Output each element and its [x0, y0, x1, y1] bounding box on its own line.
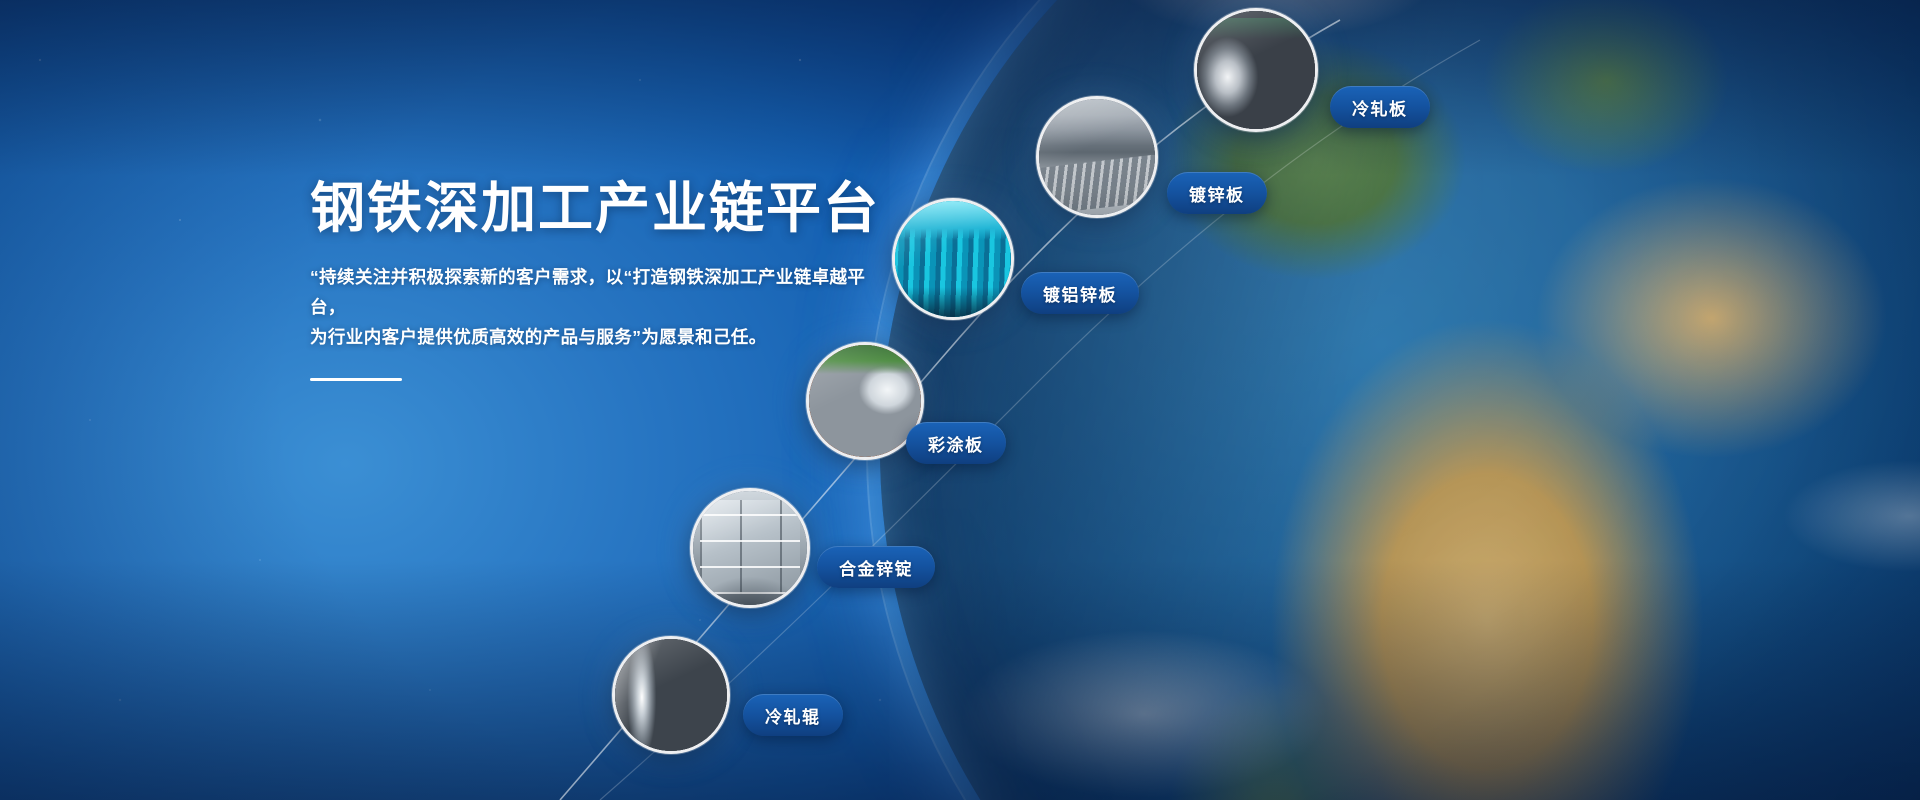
zinc-ingot-photo: [693, 491, 807, 605]
product-tag-2[interactable]: 镀锌板: [1167, 172, 1267, 214]
product-thumbnail-2[interactable]: [1036, 96, 1158, 218]
product-thumbnail-1[interactable]: [1194, 8, 1318, 132]
aluzinc-sheet-photo: [895, 201, 1011, 317]
product-tag-6[interactable]: 冷轧辊: [743, 694, 843, 736]
warehouse-bundles-photo: [1039, 99, 1155, 215]
page-title: 钢铁深加工产业链平台: [310, 178, 950, 240]
product-tag-3[interactable]: 镀铝锌板: [1021, 272, 1139, 314]
subtitle-line-2: 为行业内客户提供优质高效的产品与服务”为愿景和己任。: [310, 327, 767, 347]
subtitle-line-1: “持续关注并积极探索新的客户需求，以“打造钢铁深加工产业链卓越平台，: [310, 267, 865, 317]
steel-coil-photo: [1197, 11, 1315, 129]
product-tag-5[interactable]: 合金锌锭: [817, 546, 935, 588]
color-coated-coil-photo: [809, 345, 921, 457]
subtitle: “持续关注并积极探索新的客户需求，以“打造钢铁深加工产业链卓越平台， 为行业内客…: [310, 262, 890, 352]
product-thumbnail-3[interactable]: [892, 198, 1014, 320]
cold-roll-shaft-photo: [615, 639, 727, 751]
product-thumbnail-5[interactable]: [690, 488, 810, 608]
product-chain-arc: [0, 0, 1920, 800]
product-thumbnail-6[interactable]: [612, 636, 730, 754]
hero-banner: 钢铁深加工产业链平台 “持续关注并积极探索新的客户需求，以“打造钢铁深加工产业链…: [0, 0, 1920, 800]
headline-divider: [310, 378, 402, 381]
product-tag-1[interactable]: 冷轧板: [1330, 86, 1430, 128]
product-tag-4[interactable]: 彩涂板: [906, 422, 1006, 464]
